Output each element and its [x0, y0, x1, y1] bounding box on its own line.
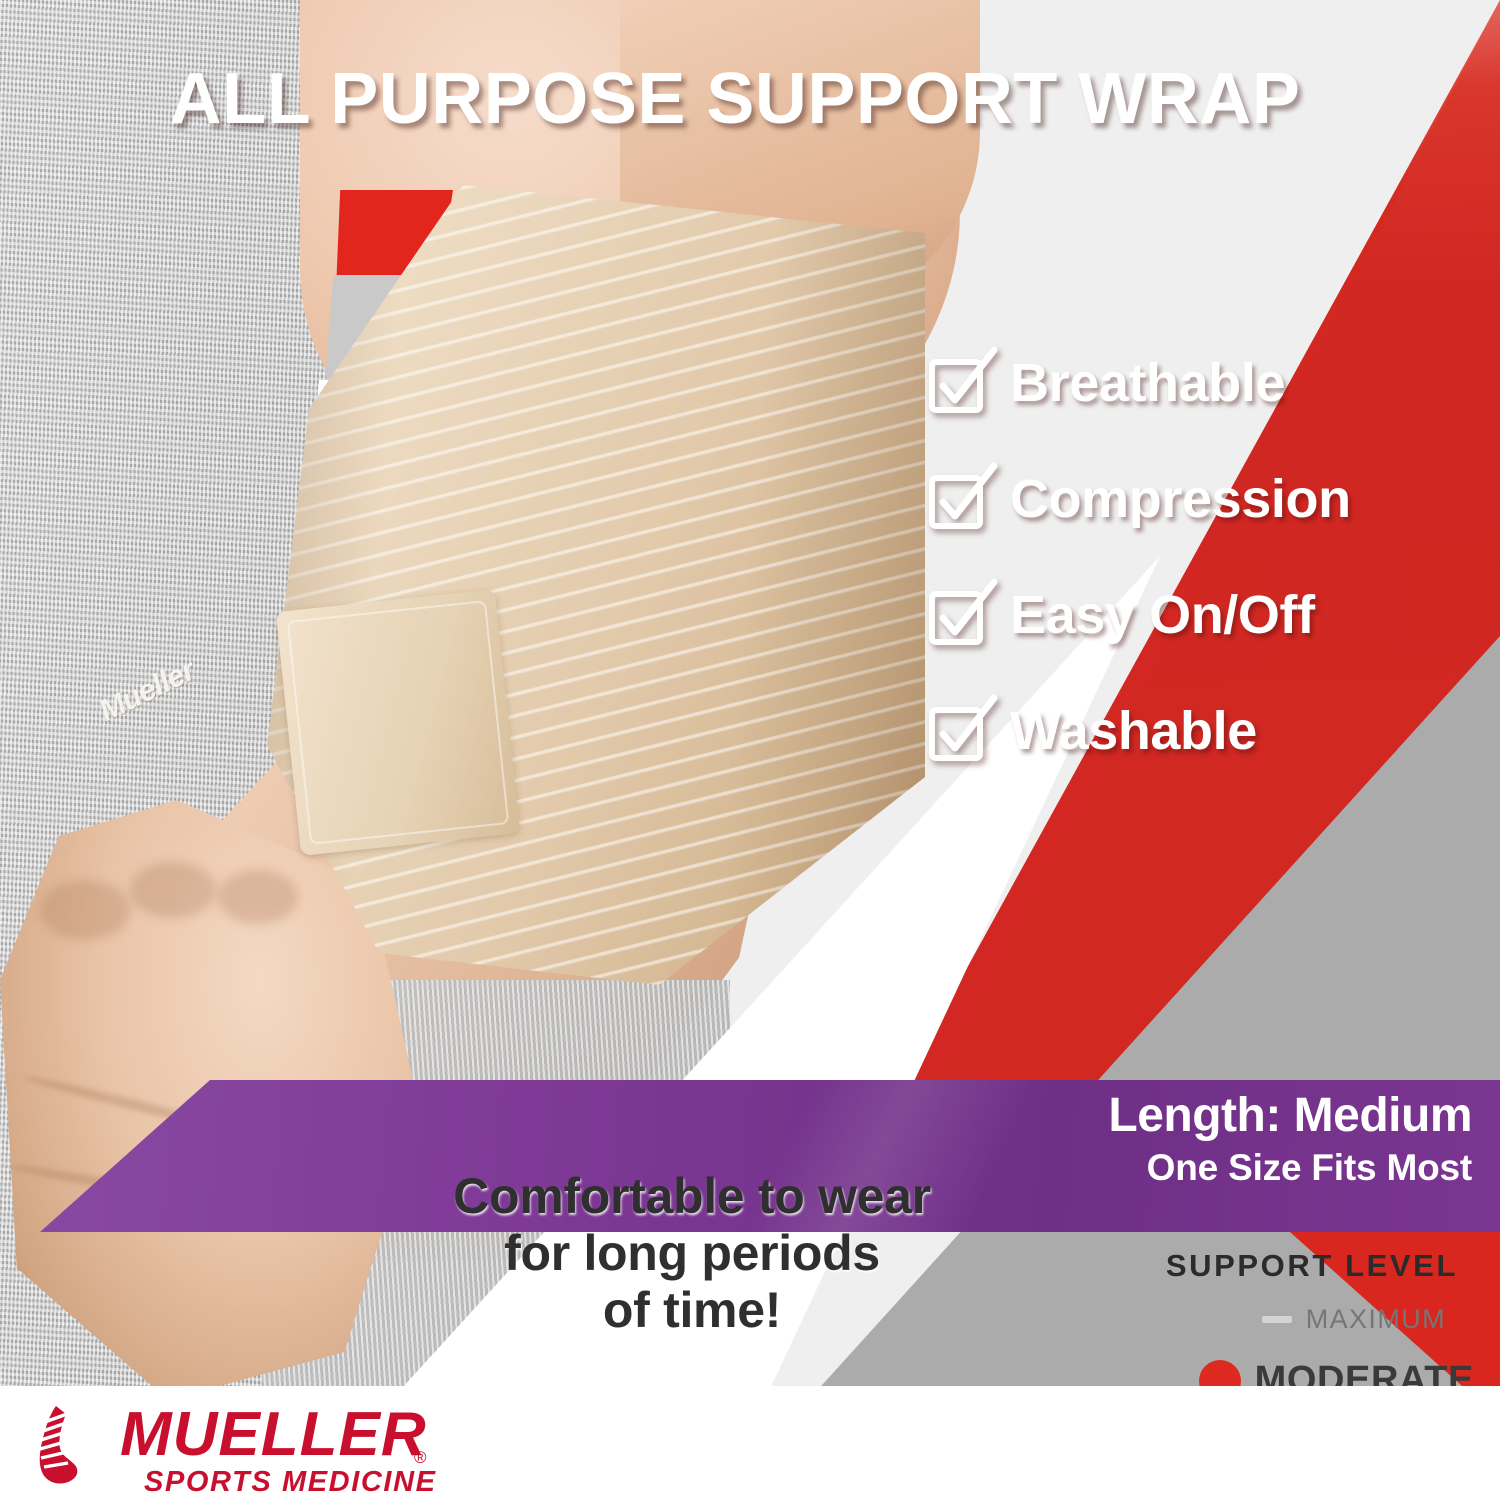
dash-marker — [1262, 1316, 1292, 1323]
knuckle-shading — [130, 862, 216, 918]
knuckle-shading — [218, 870, 298, 924]
support-level-label: MAXIMUM — [1306, 1304, 1446, 1335]
feature-label: Easy On/Off — [1010, 584, 1315, 646]
registered-trademark-icon: ® — [414, 1448, 427, 1468]
feature-item: Washable — [930, 700, 1490, 762]
feature-item: Compression — [930, 468, 1490, 530]
feature-label: Washable — [1010, 700, 1257, 762]
feature-label: Breathable — [1010, 352, 1285, 414]
checkbox-checked-icon — [930, 356, 984, 410]
size-fit-note: One Size Fits Most — [1000, 1149, 1472, 1186]
mueller-logo: MUELLER ® SPORTS MEDICINE — [22, 1396, 452, 1494]
logo-tagline: SPORTS MEDICINE — [144, 1468, 437, 1497]
length-value: Length: Medium — [1000, 1092, 1472, 1140]
checkbox-checked-icon — [930, 472, 984, 526]
wrap-closure-tab — [276, 589, 520, 856]
feature-item: Breathable — [930, 352, 1490, 414]
tagline-line-3: of time! — [392, 1282, 992, 1339]
feature-label: Compression — [1010, 468, 1351, 530]
knuckle-shading — [40, 880, 130, 940]
product-marketing-image: Mueller ALL PURPOSE SUPPORT WRAP Breatha… — [0, 0, 1500, 1500]
length-info: Length: Medium One Size Fits Most — [1000, 1092, 1472, 1186]
wrapped-foot-icon — [22, 1400, 114, 1492]
tagline-line-1: Comfortable to wear — [392, 1168, 992, 1225]
support-level-maximum: MAXIMUM — [1040, 1304, 1480, 1335]
comfort-tagline: Comfortable to wear for long periods of … — [392, 1168, 992, 1339]
checkbox-checked-icon — [930, 704, 984, 758]
tab-stitching — [287, 600, 509, 845]
support-level-title: SUPPORT LEVEL — [1040, 1248, 1480, 1284]
checkbox-checked-icon — [930, 588, 984, 642]
page-title: ALL PURPOSE SUPPORT WRAP — [0, 58, 1470, 140]
feature-list: Breathable Compression Easy On/Off — [930, 352, 1490, 816]
feature-item: Easy On/Off — [930, 584, 1490, 646]
logo-wordmark: MUELLER — [120, 1404, 427, 1466]
tagline-line-2: for long periods — [392, 1225, 992, 1282]
